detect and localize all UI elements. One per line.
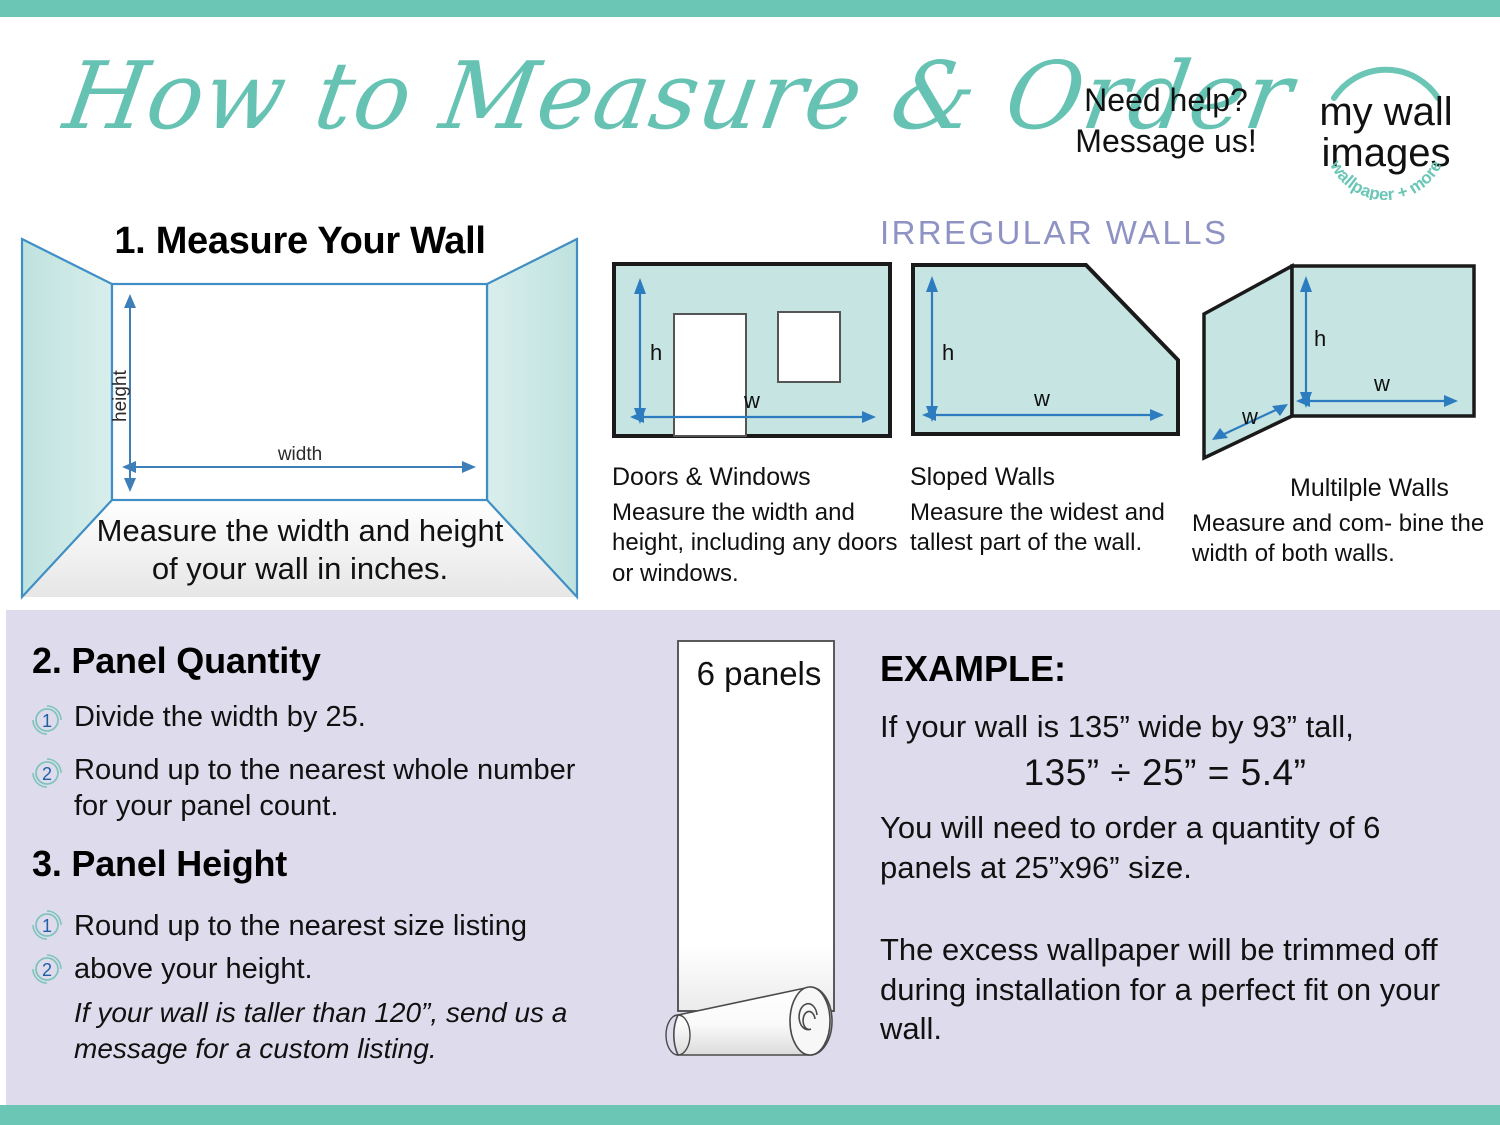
step3-heading: 3. Panel Height [32, 843, 287, 885]
multiple-walls-diagram: h w w [1192, 258, 1488, 463]
card-multi-title: Multilple Walls [1290, 474, 1492, 503]
h-label-sloped: h [942, 340, 954, 365]
w-label-multi: w [1373, 371, 1390, 396]
card-doors-title: Doors & Windows [612, 463, 902, 492]
w-label-doors: w [743, 388, 760, 413]
w-label-sloped: w [1033, 386, 1050, 411]
logo-line-1-text: my wall [1319, 90, 1452, 134]
sloped-walls-diagram: h w [910, 262, 1182, 452]
example-equation: 135” ÷ 25” = 5.4” [880, 752, 1450, 794]
svg-text:2: 2 [42, 960, 52, 980]
card-sloped-desc: Measure the widest and tallest part of t… [910, 498, 1188, 559]
example-line-3: The excess wallpaper will be trimmed off… [880, 930, 1480, 1049]
svg-text:1: 1 [42, 711, 52, 731]
h-label-multi: h [1314, 326, 1326, 351]
need-help-block: Need help? Message us! [1035, 80, 1297, 162]
section1-caption-line-2: of your wall in inches. [20, 550, 580, 588]
example-line-1: If your wall is 135” wide by 93” tall, [880, 708, 1480, 747]
bottom-accent-bar [0, 1105, 1500, 1125]
section1-caption-line-1: Measure the width and height [20, 512, 580, 550]
card-multi-desc: Measure and com- bine the width of both … [1192, 509, 1492, 570]
top-accent-bar [0, 0, 1500, 17]
step3-note: If your wall is taller than 120”, send u… [74, 995, 584, 1068]
h-label-doors: h [650, 340, 662, 365]
example-line-2: You will need to order a quantity of 6 p… [880, 808, 1480, 887]
svg-text:1: 1 [42, 916, 52, 936]
irregular-card-doors-windows: h w Doors & Windows Measure the width an… [612, 262, 902, 590]
need-help-line-2: Message us! [1035, 121, 1297, 162]
irregular-card-sloped-walls: h w Sloped Walls Measure the widest and … [910, 262, 1188, 559]
irregular-card-multiple-walls: h w w Multilple Walls Measure and com- b… [1192, 258, 1492, 570]
section1-caption: Measure the width and height of your wal… [20, 512, 580, 588]
step2-bullet-2-text: Round up to the nearest whole number for… [74, 753, 590, 825]
bullet-number-icon: 2 [30, 952, 64, 986]
measure-wall-section: height width 1. Measure Your Wall Measur… [0, 212, 600, 602]
doors-windows-diagram: h w [612, 262, 892, 452]
example-heading: EXAMPLE: [880, 648, 1066, 690]
need-help-line-1: Need help? [1035, 80, 1297, 121]
section1-title: 1. Measure Your Wall [0, 220, 600, 263]
height-label-text: height [110, 370, 131, 422]
bullet-number-icon: 1 [30, 703, 64, 737]
page-title: How to Measure & Order [58, 48, 1033, 146]
wallpaper-roll-illustration [660, 635, 860, 1075]
card-doors-desc: Measure the width and height, including … [612, 498, 902, 590]
step2-bullet-1: 1 Divide the width by 25. [30, 700, 590, 737]
bullet-number-icon: 1 [30, 908, 64, 942]
brand-logo: my wall images wallpaper + more [1300, 50, 1472, 200]
irregular-walls-heading: IRREGULAR WALLS [880, 214, 1228, 252]
step3-text: Round up to the nearest size listing abo… [74, 905, 614, 991]
width-label-text: width [277, 444, 322, 465]
step2-bullet-1-text: Divide the width by 25. [74, 700, 366, 736]
card-sloped-title: Sloped Walls [910, 463, 1188, 492]
w-label-multi-side: w [1241, 404, 1258, 429]
bullet-number-icon: 2 [30, 756, 64, 790]
svg-text:2: 2 [42, 764, 52, 784]
infographic-page: How to Measure & Order Need help? Messag… [0, 0, 1500, 1125]
step2-bullet-2: 2 Round up to the nearest whole number f… [30, 753, 590, 825]
roll-panel-count-label: 6 panels [678, 655, 840, 693]
step2-heading: 2. Panel Quantity [32, 640, 321, 682]
